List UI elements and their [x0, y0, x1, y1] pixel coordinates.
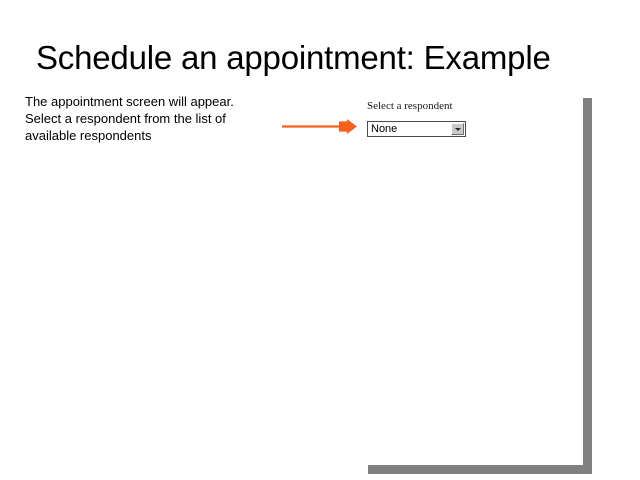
respondent-select-dropdown-button[interactable]: [451, 123, 464, 135]
respondent-select[interactable]: None: [367, 121, 466, 137]
respondent-select-value: None: [371, 123, 397, 136]
screenshot-shadow-bottom: [368, 465, 587, 474]
instruction-text: The appointment screen will appear. Sele…: [25, 93, 255, 144]
chevron-down-icon: [455, 128, 461, 131]
page-title: Schedule an appointment: Example: [36, 38, 606, 78]
respondent-select-label: Select a respondent: [367, 100, 453, 112]
right-arrow-icon: [281, 118, 365, 136]
slide-canvas: Schedule an appointment: Example The app…: [0, 0, 640, 480]
embedded-screenshot: [360, 92, 583, 465]
screenshot-shadow-right: [583, 98, 592, 474]
